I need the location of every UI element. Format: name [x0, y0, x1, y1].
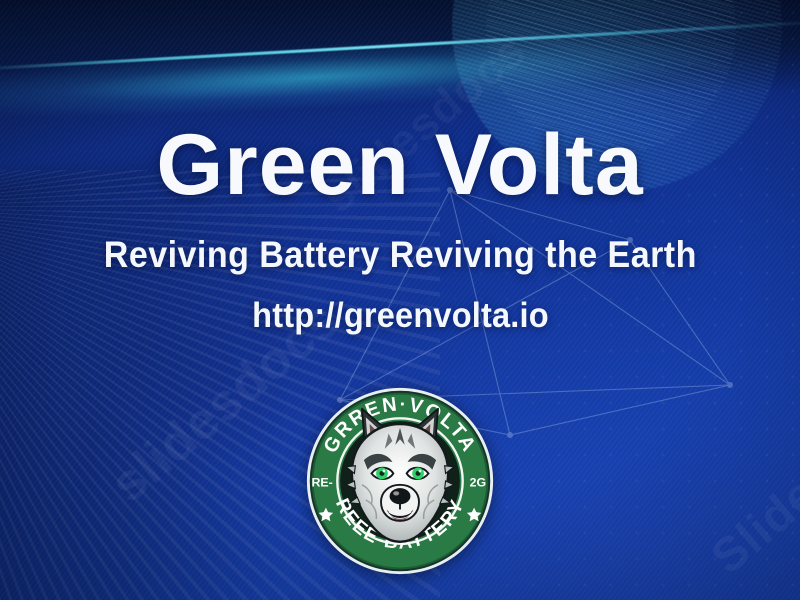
slide-subtitle: Reviving Battery Reviving the Earth	[103, 234, 696, 276]
website-url[interactable]: http://greenvolta.io	[252, 296, 549, 336]
wolf-nose	[390, 488, 411, 504]
presentation-slide: slidesdocs slidesdocs Slidesdocs Green V…	[0, 0, 800, 600]
logo-right-mark: 2G	[470, 476, 486, 490]
brand-logo: GRREN·VOLTA REEE-BATTERY RE- 2G	[305, 386, 495, 576]
logo-left-mark: RE-	[311, 476, 332, 490]
page-title: Green Volta	[156, 122, 643, 208]
